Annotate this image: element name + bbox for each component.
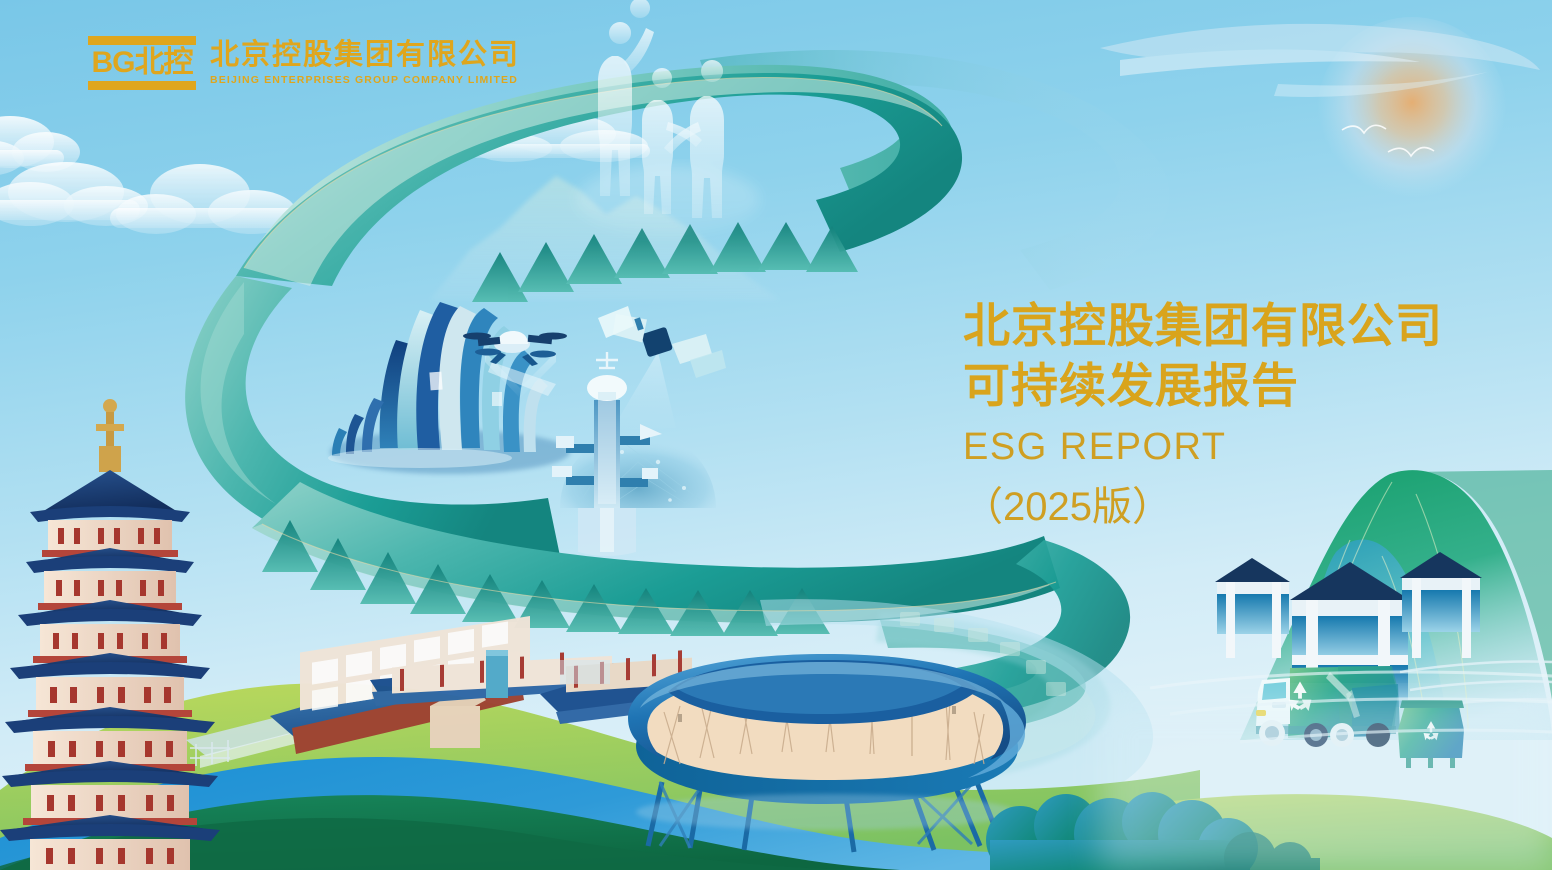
logo-mark-text-wrap: BG北控 — [88, 45, 196, 81]
stadium — [628, 654, 1026, 852]
company-logo: BG北控 北京控股集团有限公司 BEIJING ENTERPRISES GROU… — [88, 36, 520, 90]
report-version: （2025版） — [963, 485, 1443, 529]
logo-mark-text: BG北控 — [92, 48, 193, 78]
esg-report-cover: BG北控 北京控股集团有限公司 BEIJING ENTERPRISES GROU… — [0, 0, 1552, 870]
company-name-block: 北京控股集团有限公司 BEIJING ENTERPRISES GROUP COM… — [210, 40, 520, 85]
report-title-line2: 可持续发展报告 — [963, 356, 1443, 416]
logo-bar-top — [88, 36, 196, 45]
company-name-en: BEIJING ENTERPRISES GROUP COMPANY LIMITE… — [210, 74, 520, 86]
report-title-line1: 北京控股集团有限公司 — [963, 296, 1443, 356]
logo-bar-bottom — [88, 81, 196, 90]
report-title-english: ESG REPORT — [963, 427, 1443, 469]
bg-logo-mark: BG北控 — [88, 36, 196, 90]
company-name-cn: 北京控股集团有限公司 — [210, 40, 520, 70]
report-title-block: 北京控股集团有限公司 可持续发展报告 ESG REPORT （2025版） — [963, 296, 1443, 529]
